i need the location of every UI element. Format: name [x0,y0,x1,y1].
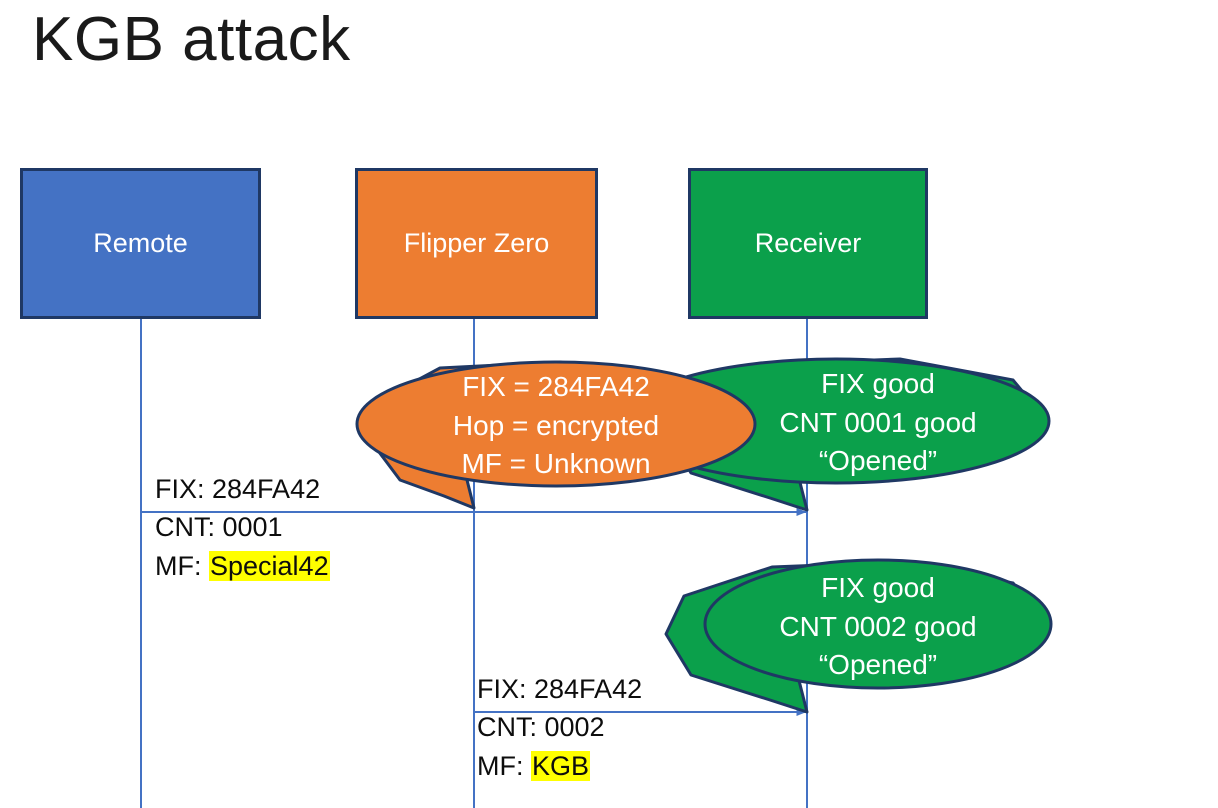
message-2-line-cnt: CNT: 0002 [477,708,642,746]
message-2-mf-prefix: MF: [477,751,531,781]
message-1-line-fix: FIX: 284FA42 [155,470,330,508]
message-1-line-cnt: CNT: 0001 [155,508,330,546]
message-2-line-fix: FIX: 284FA42 [477,670,642,708]
slide-canvas: KGB attack Remote Flipper Zero Receiver [0,0,1218,808]
message-2-mf-value: KGB [531,751,590,781]
message-1-line-mf: MF: Special42 [155,547,330,585]
message-1-labels: FIX: 284FA42 CNT: 0001 MF: Special42 [155,470,330,585]
message-1-mf-value: Special42 [209,551,330,581]
message-2-line-mf: MF: KGB [477,747,642,785]
message-1-mf-prefix: MF: [155,551,209,581]
message-2-labels: FIX: 284FA42 CNT: 0002 MF: KGB [477,670,642,785]
